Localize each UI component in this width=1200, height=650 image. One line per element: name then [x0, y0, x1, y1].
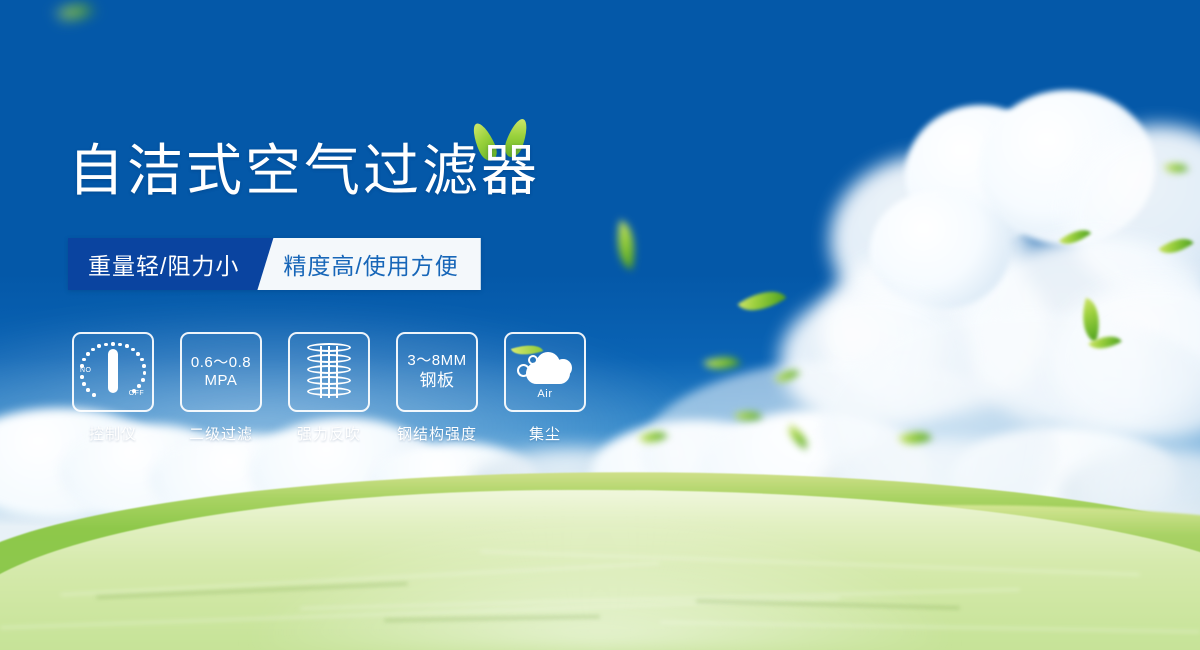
feature-caption: 钢结构强度: [397, 423, 477, 444]
air-label: Air: [516, 388, 574, 400]
gauge-icon: NO OFF: [80, 341, 146, 403]
page-title: 自洁式空气过滤器: [68, 142, 540, 201]
feature-item-dust-collection[interactable]: Air 集尘: [504, 332, 586, 444]
steel-thickness: 3～8MM: [407, 352, 466, 370]
air-cloud-icon: Air: [516, 348, 574, 396]
gauge-icon-box: NO OFF: [72, 332, 154, 412]
feature-item-two-stage-filter[interactable]: 0.6～0.8 MPA 二级过滤: [180, 332, 262, 444]
filter-coil-icon: [307, 343, 351, 401]
filter-coil-icon-box: [288, 332, 370, 412]
feature-list: NO OFF 控制仪 0.6～0.8 MPA 二级过滤: [72, 332, 586, 444]
feature-item-steel-strength[interactable]: 3～8MM 钢板 钢结构强度: [396, 332, 478, 444]
pressure-value: 0.6～0.8: [191, 354, 251, 372]
feature-caption: 集尘: [529, 423, 561, 444]
feature-item-controller[interactable]: NO OFF 控制仪: [72, 332, 154, 444]
steel-material: 钢板: [420, 371, 455, 392]
subtitle-left: 重量轻/阻力小: [68, 238, 273, 290]
feature-caption: 二级过滤: [189, 423, 253, 444]
feature-item-backflush[interactable]: 强力反吹: [288, 332, 370, 444]
gauge-label-on: NO: [80, 367, 91, 374]
steel-plate-text-icon: 3～8MM 钢板: [396, 332, 478, 412]
pressure-unit: MPA: [205, 372, 238, 390]
subtitle-right: 精度高/使用方便: [257, 238, 480, 290]
meadow-foreground: [0, 420, 1200, 650]
subtitle-bar: 重量轻/阻力小 精度高/使用方便: [68, 238, 481, 290]
feature-caption: 强力反吹: [297, 423, 361, 444]
product-banner: 自洁式空气过滤器 重量轻/阻力小 精度高/使用方便: [0, 0, 1200, 650]
feature-caption: 控制仪: [89, 423, 137, 444]
gauge-label-off: OFF: [129, 390, 144, 397]
pressure-text-icon: 0.6～0.8 MPA: [180, 332, 262, 412]
air-cloud-icon-box: Air: [504, 332, 586, 412]
